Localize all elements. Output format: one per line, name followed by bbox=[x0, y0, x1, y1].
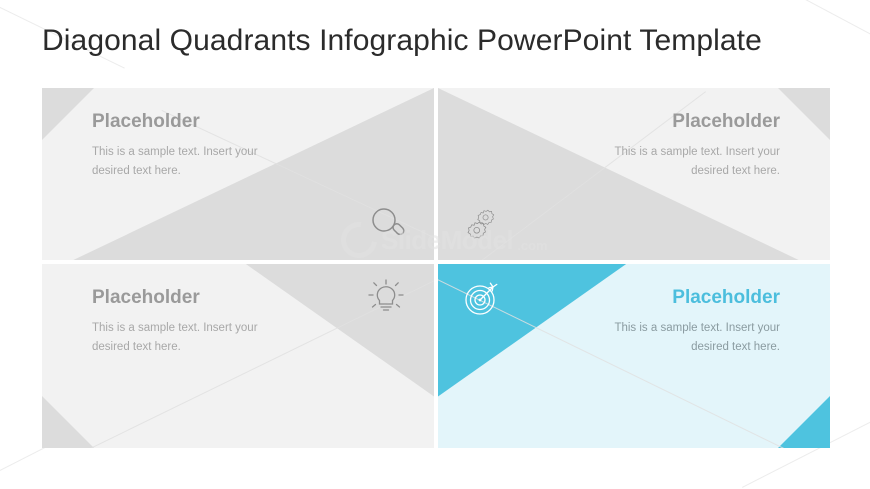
quadrant-title: Placeholder bbox=[92, 288, 277, 309]
quadrant-body: This is a sample text. Insert your desir… bbox=[595, 143, 780, 180]
quadrant-body: This is a sample text. Insert your desir… bbox=[595, 319, 780, 356]
quadrant-bottom-right[interactable]: Placeholder This is a sample text. Inser… bbox=[438, 264, 830, 448]
quadrant-title: Placeholder bbox=[595, 288, 780, 309]
quadrant-top-left[interactable]: Placeholder This is a sample text. Inser… bbox=[42, 88, 434, 260]
quadrant-text-block: Placeholder This is a sample text. Inser… bbox=[92, 112, 277, 180]
quadrant-title: Placeholder bbox=[595, 112, 780, 133]
decorative-hairline-top-right bbox=[800, 0, 870, 53]
quadrant-body: This is a sample text. Insert your desir… bbox=[92, 143, 277, 180]
slide-title: Diagonal Quadrants Infographic PowerPoin… bbox=[42, 24, 762, 58]
quadrant-top-right[interactable]: Placeholder This is a sample text. Inser… bbox=[438, 88, 830, 260]
quadrant-body: This is a sample text. Insert your desir… bbox=[92, 319, 277, 356]
quadrant-text-block: Placeholder This is a sample text. Inser… bbox=[595, 112, 780, 180]
quadrant-title: Placeholder bbox=[92, 112, 277, 133]
quadrant-text-block: Placeholder This is a sample text. Inser… bbox=[595, 288, 780, 356]
quadrant-bottom-left[interactable]: Placeholder This is a sample text. Inser… bbox=[42, 264, 434, 448]
gears-icon bbox=[462, 206, 502, 246]
target-icon bbox=[462, 278, 502, 318]
quadrant-text-block: Placeholder This is a sample text. Inser… bbox=[92, 288, 277, 356]
lightbulb-icon bbox=[366, 278, 406, 318]
slide-canvas: Diagonal Quadrants Infographic PowerPoin… bbox=[0, 0, 870, 489]
magnifier-icon bbox=[368, 204, 408, 244]
